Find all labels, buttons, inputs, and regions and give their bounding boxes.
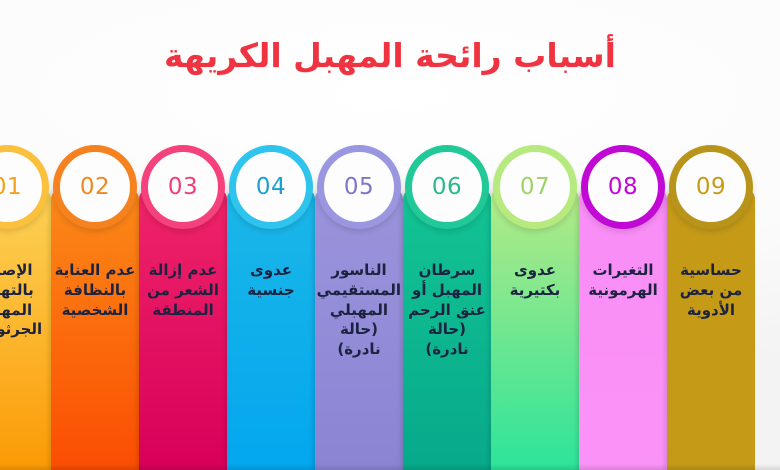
- card-number: 01: [0, 176, 22, 199]
- cause-card-01[interactable]: 01الإصابة بالتهاب المهبل الجرثومي: [0, 145, 51, 470]
- page-title: أسباب رائحة المهبل الكريهة: [164, 37, 616, 75]
- card-number: 06: [432, 176, 462, 199]
- card-number-badge: 07: [493, 145, 577, 229]
- card-label: عدوى جنسية: [229, 261, 313, 301]
- card-label: عدم العناية بالنظافة الشخصية: [53, 261, 137, 320]
- card-number-badge: 08: [581, 145, 665, 229]
- card-label: سرطان المهبل أو عنق الرحم (حالة نادرة): [405, 261, 489, 360]
- card-body: [667, 189, 755, 470]
- card-number-badge: 02: [53, 145, 137, 229]
- card-number: 08: [608, 176, 638, 199]
- card-number: 07: [520, 176, 550, 199]
- cause-card-04[interactable]: 04عدوى جنسية: [227, 145, 315, 470]
- card-label: حساسية من بعض الأدوية: [669, 261, 753, 320]
- card-number-badge: 05: [317, 145, 401, 229]
- card-number-badge: 03: [141, 145, 225, 229]
- cause-card-03[interactable]: 03عدم إزالة الشعر من المنطقة: [139, 145, 227, 470]
- card-number-badge: 06: [405, 145, 489, 229]
- card-body: [579, 189, 667, 470]
- infographic-canvas: أسباب رائحة المهبل الكريهة 01الإصابة بال…: [0, 0, 780, 470]
- card-label: عدوى بكتيرية: [493, 261, 577, 301]
- cause-card-06[interactable]: 06سرطان المهبل أو عنق الرحم (حالة نادرة): [403, 145, 491, 470]
- cards-strip: 01الإصابة بالتهاب المهبل الجرثومي02عدم ا…: [0, 145, 780, 470]
- cause-card-09[interactable]: 09حساسية من بعض الأدوية: [667, 145, 755, 470]
- title-area: أسباب رائحة المهبل الكريهة: [0, 0, 780, 112]
- cause-card-08[interactable]: 08التغيرات الهرمونية: [579, 145, 667, 470]
- card-label: الإصابة بالتهاب المهبل الجرثومي: [0, 261, 49, 340]
- card-number: 03: [168, 176, 198, 199]
- card-body: [51, 189, 139, 470]
- cause-card-07[interactable]: 07عدوى بكتيرية: [491, 145, 579, 470]
- card-number: 05: [344, 176, 374, 199]
- card-body: [227, 189, 315, 470]
- card-number: 04: [256, 176, 286, 199]
- card-number: 02: [80, 176, 110, 199]
- cause-card-05[interactable]: 05الناسور المستقيمي المهبلي (حالة نادرة): [315, 145, 403, 470]
- card-body: [139, 189, 227, 470]
- card-number-badge: 04: [229, 145, 313, 229]
- card-label: الناسور المستقيمي المهبلي (حالة نادرة): [317, 261, 401, 360]
- card-label: عدم إزالة الشعر من المنطقة: [141, 261, 225, 320]
- cause-card-02[interactable]: 02عدم العناية بالنظافة الشخصية: [51, 145, 139, 470]
- card-body: [491, 189, 579, 470]
- card-label: التغيرات الهرمونية: [581, 261, 665, 301]
- card-number-badge: 09: [669, 145, 753, 229]
- card-number: 09: [696, 176, 726, 199]
